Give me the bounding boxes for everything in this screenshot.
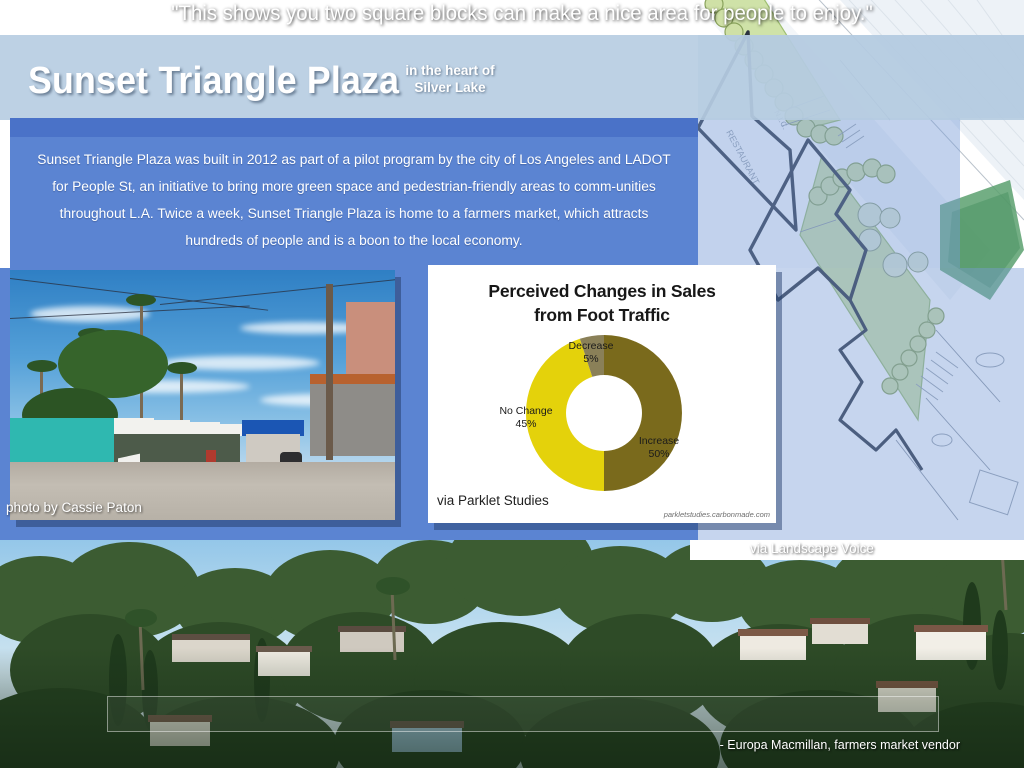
- intro-panel-topbar: [10, 118, 698, 137]
- slice-label-no-change: No Change 45%: [486, 405, 566, 431]
- farmers-market-photo: [10, 270, 395, 520]
- intro-panel: Sunset Triangle Plaza was built in 2012 …: [10, 137, 698, 268]
- slice-label-increase-name: Increase: [624, 435, 694, 448]
- page-subtitle: in the heart of Silver Lake: [385, 62, 515, 96]
- chart-title: Perceived Changes in Sales from Foot Tra…: [428, 279, 776, 327]
- chart-title-line-2: from Foot Traffic: [428, 303, 776, 327]
- market-tent: [154, 420, 190, 434]
- pull-quote: "This shows you two square blocks can ma…: [119, 2, 924, 26]
- slice-label-no-change-value: 45%: [486, 418, 566, 431]
- chart-source: via Parklet Studies: [437, 493, 549, 508]
- palm-frond: [27, 360, 57, 372]
- siteplan-credit: via Landscape Voice: [750, 541, 874, 556]
- chart-card: Perceived Changes in Sales from Foot Tra…: [428, 265, 776, 523]
- slice-label-increase-value: 50%: [624, 448, 694, 461]
- awning: [310, 374, 395, 384]
- panel-wash-right-upper: [698, 118, 960, 268]
- photo-credit: photo by Cassie Paton: [6, 500, 142, 515]
- palm-frond: [126, 294, 156, 306]
- slice-label-decrease-value: 5%: [556, 353, 626, 366]
- utility-pole: [326, 284, 333, 460]
- hillside-background-photo: [0, 530, 1024, 768]
- poster-canvas: RESTAURANT N.I.C. Sunset Triangle Plaza …: [0, 0, 1024, 768]
- slice-label-no-change-name: No Change: [486, 405, 566, 418]
- palm-frond: [167, 362, 197, 374]
- slice-label-increase: Increase 50%: [624, 435, 694, 461]
- chart-title-line-1: Perceived Changes in Sales: [428, 279, 776, 303]
- quote-box: [107, 696, 939, 732]
- slice-label-decrease: Decrease 5%: [556, 340, 626, 366]
- quote-attribution: - Europa Macmillan, farmers market vendo…: [0, 738, 960, 752]
- subtitle-line-1: in the heart of: [385, 62, 515, 79]
- slice-label-decrease-name: Decrease: [556, 340, 626, 353]
- chart-watermark: parkletstudies.carbonmade.com: [664, 510, 770, 519]
- storefront-building: [310, 378, 395, 456]
- market-tent: [114, 418, 154, 434]
- page-title: Sunset Triangle Plaza: [28, 60, 399, 103]
- subtitle-line-2: Silver Lake: [385, 79, 515, 96]
- intro-paragraph: Sunset Triangle Plaza was built in 2012 …: [34, 147, 674, 255]
